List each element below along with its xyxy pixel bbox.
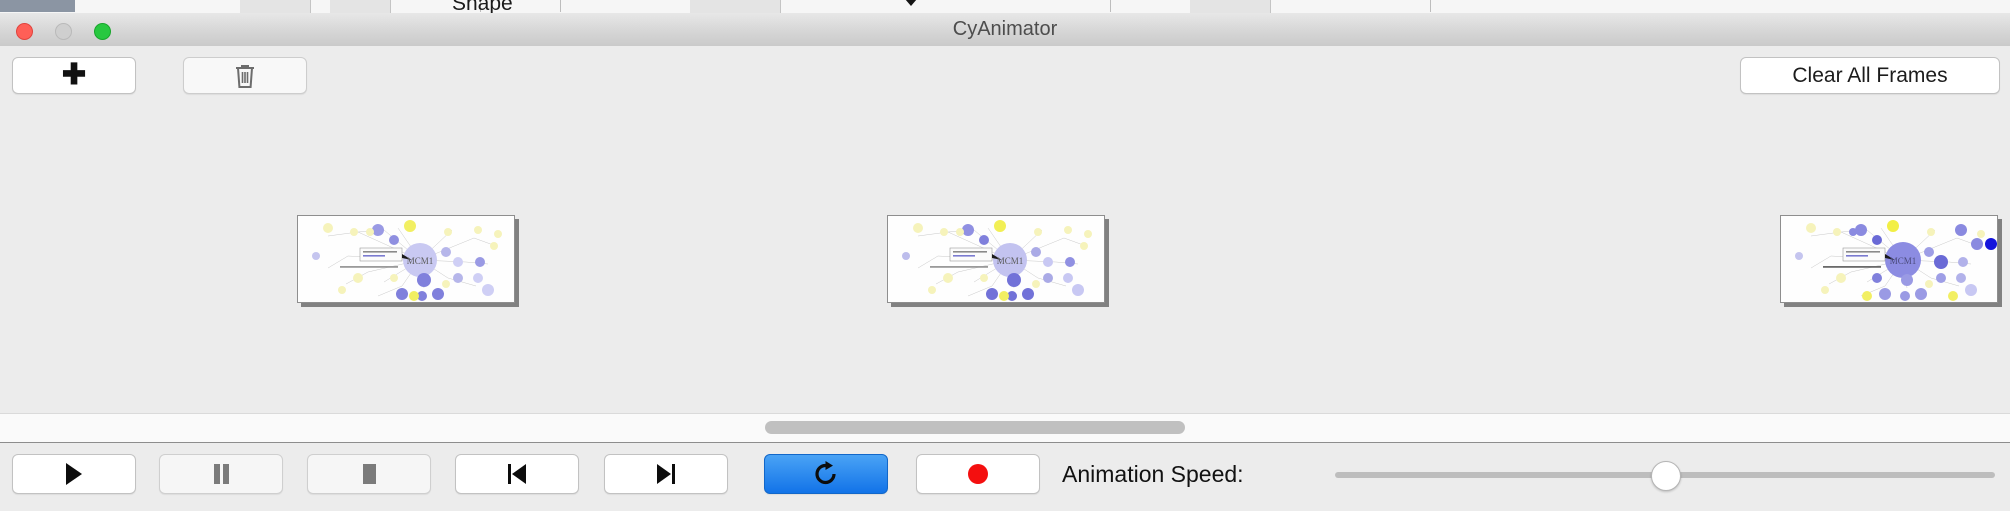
svg-text:MCM1: MCM1 bbox=[1890, 256, 1917, 266]
background-toolbar-block bbox=[0, 0, 75, 12]
background-chip bbox=[330, 0, 391, 13]
timeline-scrollbar[interactable] bbox=[0, 413, 2010, 443]
title-bar: CyAnimator bbox=[0, 13, 2010, 47]
slider-thumb[interactable] bbox=[1651, 461, 1681, 491]
record-button[interactable] bbox=[916, 454, 1040, 494]
background-divider bbox=[1110, 0, 1111, 12]
background-divider bbox=[560, 0, 561, 12]
animation-speed-label: Animation Speed: bbox=[1062, 454, 1244, 494]
network-thumbnail-image: MCM1 bbox=[298, 216, 514, 302]
svg-text:MCM1: MCM1 bbox=[407, 256, 434, 266]
background-divider bbox=[1430, 0, 1431, 12]
play-icon bbox=[63, 461, 85, 487]
skip-to-end-button[interactable] bbox=[604, 454, 728, 494]
background-caret-icon bbox=[905, 0, 917, 6]
trash-icon bbox=[233, 63, 257, 89]
background-window-label: Shape bbox=[452, 0, 513, 14]
window-title: CyAnimator bbox=[0, 13, 2010, 46]
play-button[interactable] bbox=[12, 454, 136, 494]
scrollbar-thumb[interactable] bbox=[765, 421, 1185, 434]
record-icon bbox=[966, 462, 990, 486]
background-window-strip: Shape bbox=[0, 0, 2010, 14]
skip-to-start-button[interactable] bbox=[455, 454, 579, 494]
background-chip bbox=[240, 0, 311, 13]
timeline-panel[interactable]: MCM1 bbox=[0, 104, 2010, 413]
stop-icon bbox=[358, 461, 380, 487]
frame-thumbnail[interactable]: MCM1 bbox=[297, 215, 515, 303]
add-frame-button[interactable]: ✚ bbox=[12, 57, 136, 94]
skip-to-end-icon bbox=[654, 461, 678, 487]
skip-to-start-icon bbox=[505, 461, 529, 487]
delete-frame-button[interactable] bbox=[183, 57, 307, 94]
network-thumbnail-image: MCM1 bbox=[1781, 216, 1997, 302]
loop-icon bbox=[813, 460, 839, 488]
pause-icon bbox=[210, 461, 232, 487]
network-thumbnail-image: MCM1 bbox=[888, 216, 1104, 302]
background-chip bbox=[1190, 0, 1271, 13]
clear-all-frames-button[interactable]: Clear All Frames bbox=[1740, 57, 2000, 94]
playback-controls: Animation Speed: bbox=[0, 442, 2010, 511]
cyanimator-window: Shape CyAnimator ✚ Clear All Frames bbox=[0, 0, 2010, 510]
animation-speed-slider[interactable] bbox=[1335, 454, 1995, 494]
frame-thumbnail[interactable]: MCM1 bbox=[1780, 215, 1998, 303]
toolbar: ✚ Clear All Frames bbox=[0, 46, 2010, 105]
background-chip bbox=[690, 0, 781, 13]
loop-button[interactable] bbox=[764, 454, 888, 494]
plus-icon: ✚ bbox=[62, 61, 86, 90]
stop-button[interactable] bbox=[307, 454, 431, 494]
frame-thumbnail[interactable]: MCM1 bbox=[887, 215, 1105, 303]
svg-text:MCM1: MCM1 bbox=[997, 256, 1024, 266]
pause-button[interactable] bbox=[159, 454, 283, 494]
clear-all-frames-label: Clear All Frames bbox=[1792, 64, 1947, 88]
